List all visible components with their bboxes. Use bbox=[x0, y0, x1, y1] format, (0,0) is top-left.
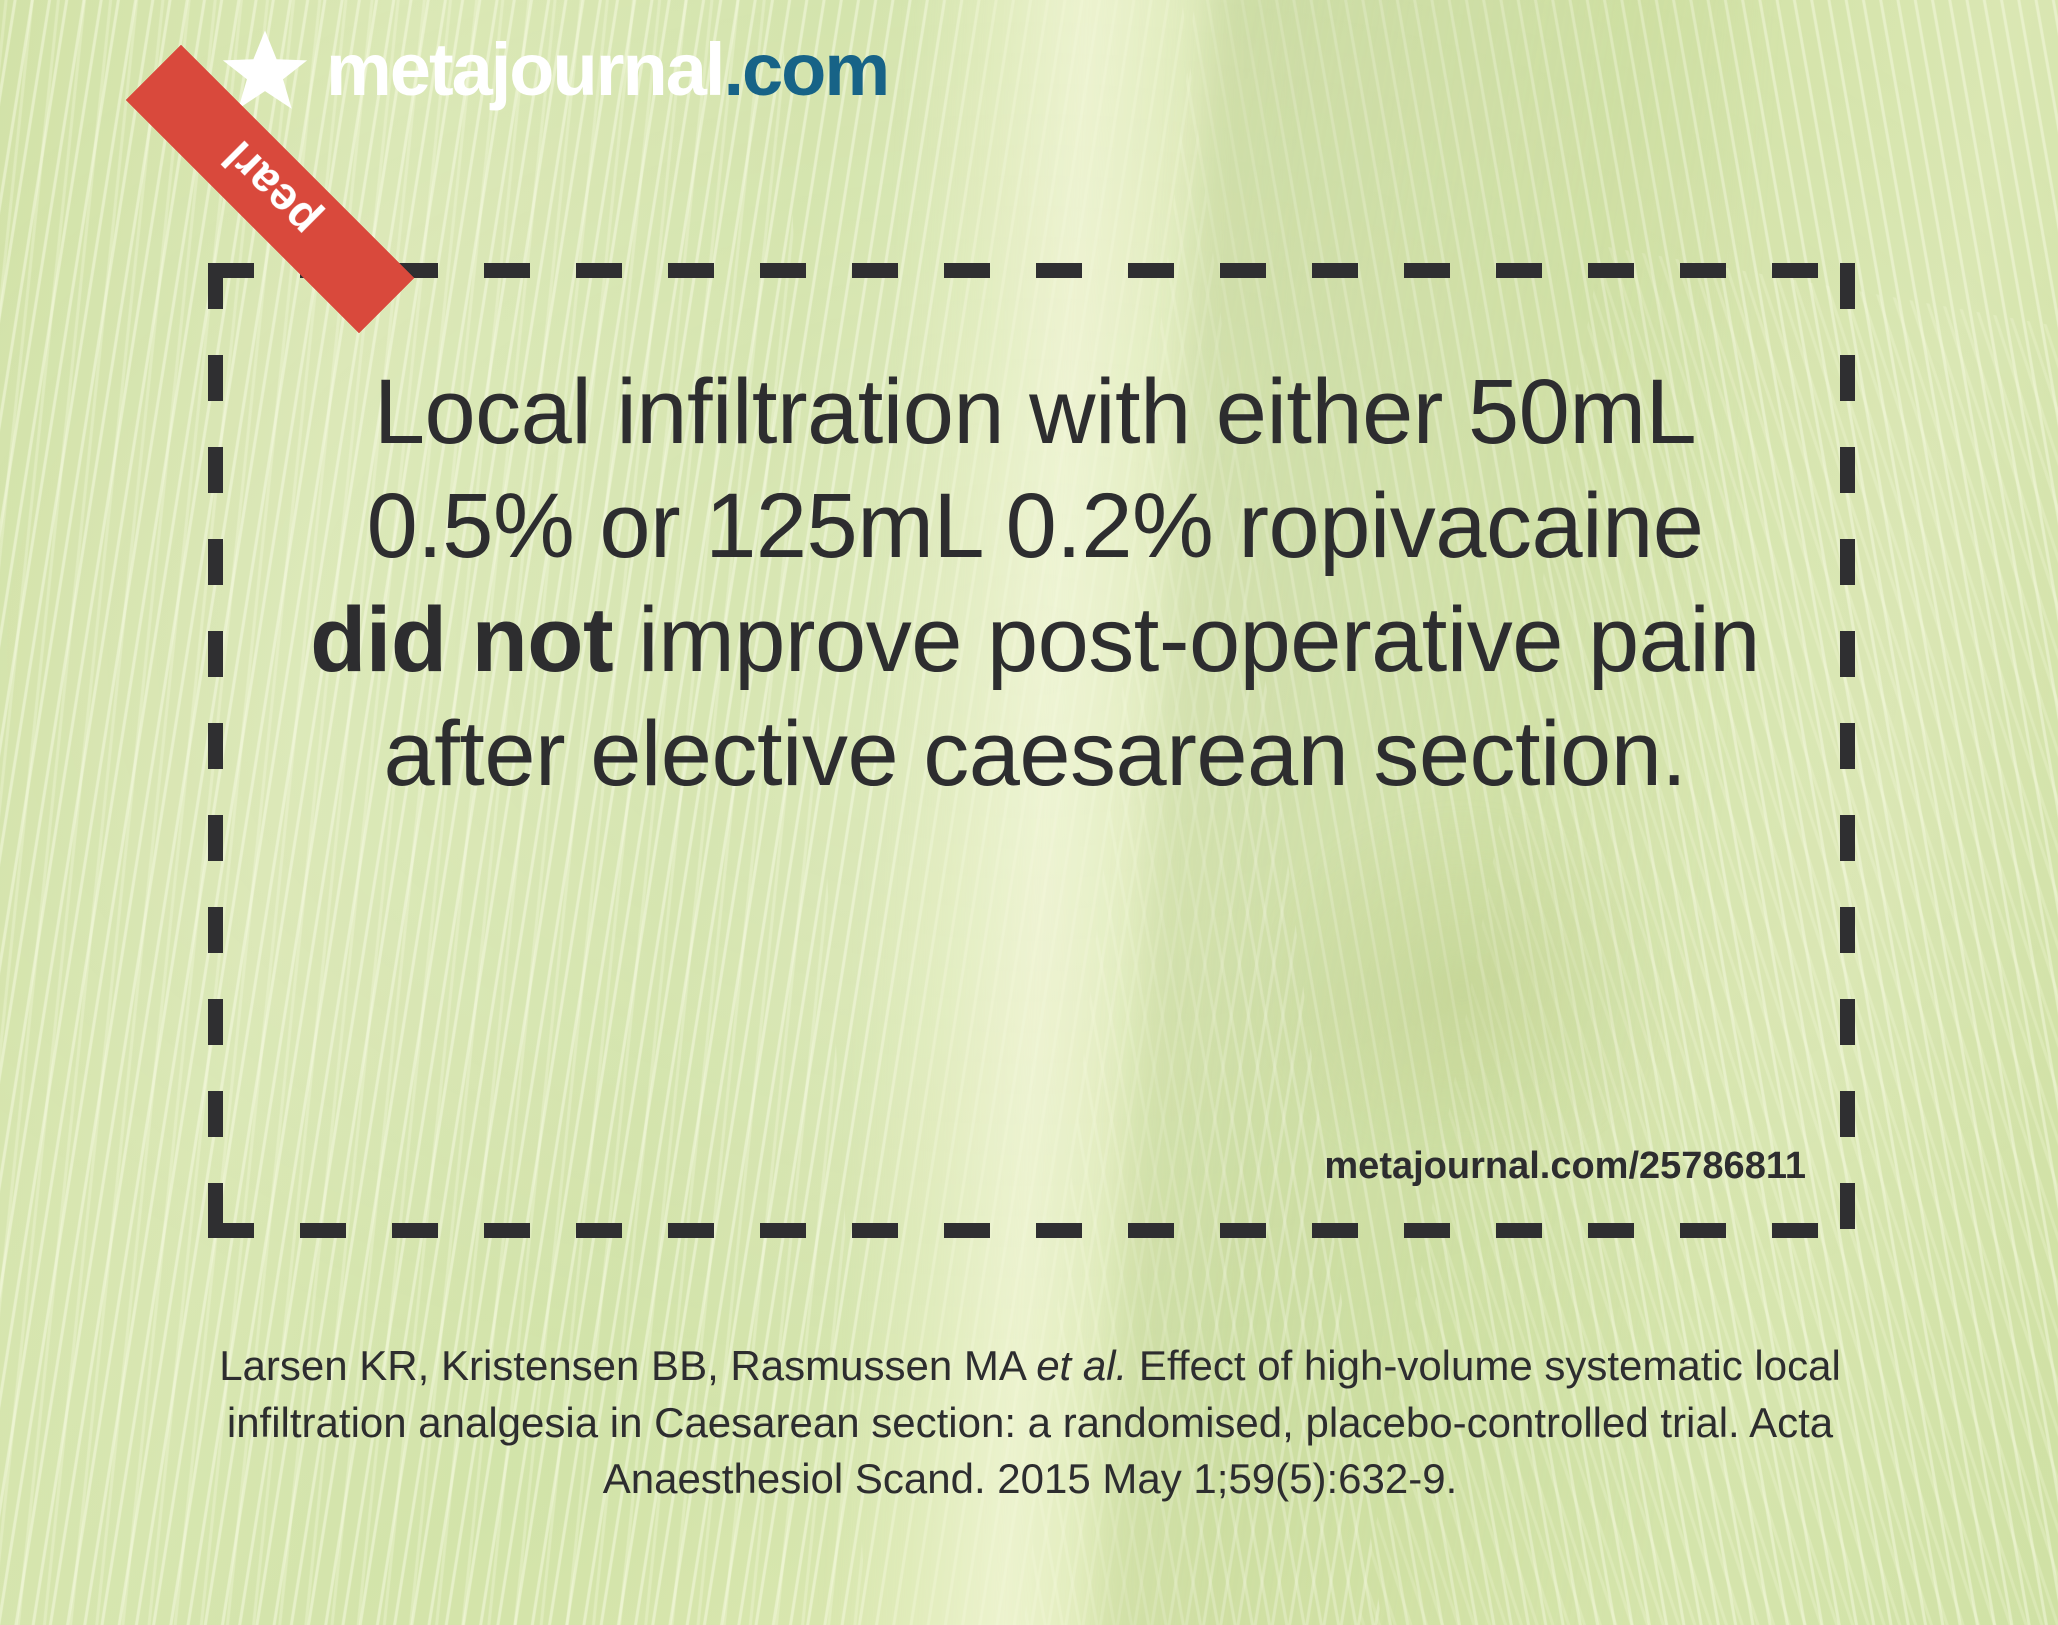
dashed-edge-bottom bbox=[208, 1223, 1855, 1238]
brand-logo[interactable]: metajournal.com bbox=[222, 28, 888, 112]
dashed-edge-top bbox=[208, 263, 1855, 278]
citation-text: Larsen KR, Kristensen BB, Rasmussen MA e… bbox=[150, 1338, 1910, 1508]
brand-name: metajournal bbox=[326, 28, 723, 111]
dashed-edge-left bbox=[208, 263, 223, 1238]
citation-authors: Larsen KR, Kristensen BB, Rasmussen MA bbox=[219, 1342, 1036, 1389]
dashed-edge-right bbox=[1840, 263, 1855, 1238]
pearl-statement-segment: Local infiltration with either 50mL 0.5%… bbox=[367, 361, 1704, 577]
brand-wordmark: metajournal.com bbox=[326, 33, 888, 107]
pearl-card: metajournal.com Local infiltration with … bbox=[0, 0, 2058, 1625]
pearl-statement-emphasis: did not bbox=[310, 589, 613, 691]
pearl-statement: Local infiltration with either 50mL 0.5%… bbox=[300, 355, 1770, 811]
pearl-permalink[interactable]: metajournal.com/25786811 bbox=[1324, 1145, 1806, 1188]
brand-tld: .com bbox=[723, 28, 888, 111]
citation-etal: et al. bbox=[1036, 1342, 1127, 1389]
